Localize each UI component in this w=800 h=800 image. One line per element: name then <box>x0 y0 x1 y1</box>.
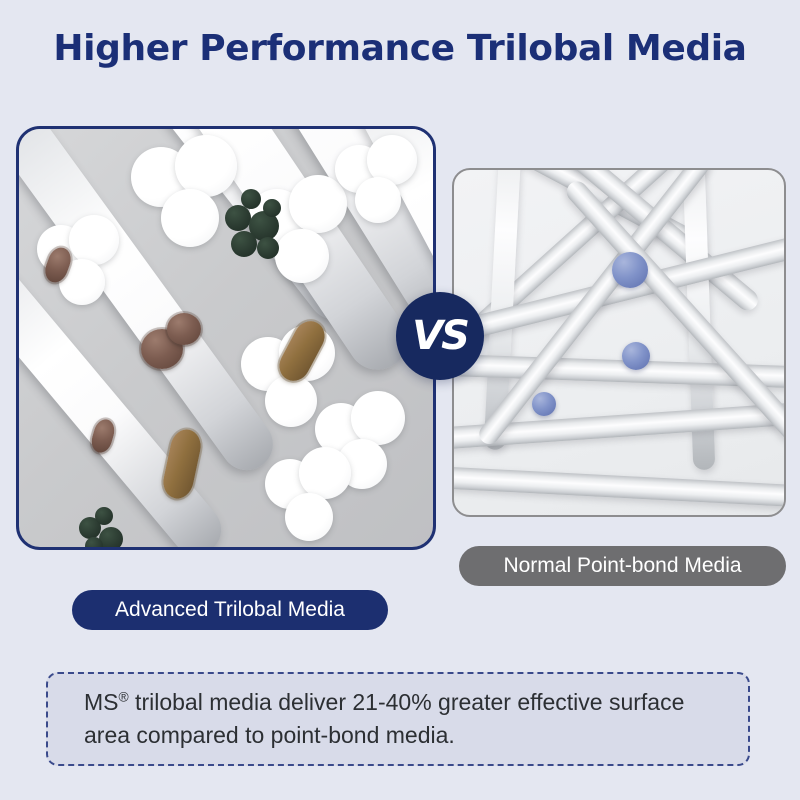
point-bond-media-panel <box>452 168 786 517</box>
caption-brand: MS <box>84 689 119 715</box>
page-title: Higher Performance Trilobal Media <box>0 28 800 69</box>
particle-bead <box>612 252 648 288</box>
microbe-particle <box>167 313 201 345</box>
vs-label: VS <box>412 316 468 356</box>
round-fiber <box>452 465 786 510</box>
vs-badge: VS <box>396 292 484 380</box>
registered-trademark-icon: ® <box>119 690 129 705</box>
point-bond-media-label: Normal Point-bond Media <box>459 546 786 586</box>
caption-body: trilobal media deliver 21-40% greater ef… <box>84 689 684 748</box>
particle-bead <box>532 392 556 416</box>
caption-text: MS® trilobal media deliver 21-40% greate… <box>84 686 712 751</box>
microbe-particle <box>79 507 129 550</box>
caption-box: MS® trilobal media deliver 21-40% greate… <box>46 672 750 766</box>
microbe-particle <box>219 187 289 267</box>
microbe-particle <box>160 427 204 502</box>
trilobal-media-label: Advanced Trilobal Media <box>72 590 388 630</box>
microbe-particle <box>42 244 75 285</box>
point-bond-fiber-scene <box>454 170 784 515</box>
trilobal-fiber-scene <box>19 129 433 547</box>
trilobal-media-panel <box>16 126 436 550</box>
particle-bead <box>622 342 650 370</box>
